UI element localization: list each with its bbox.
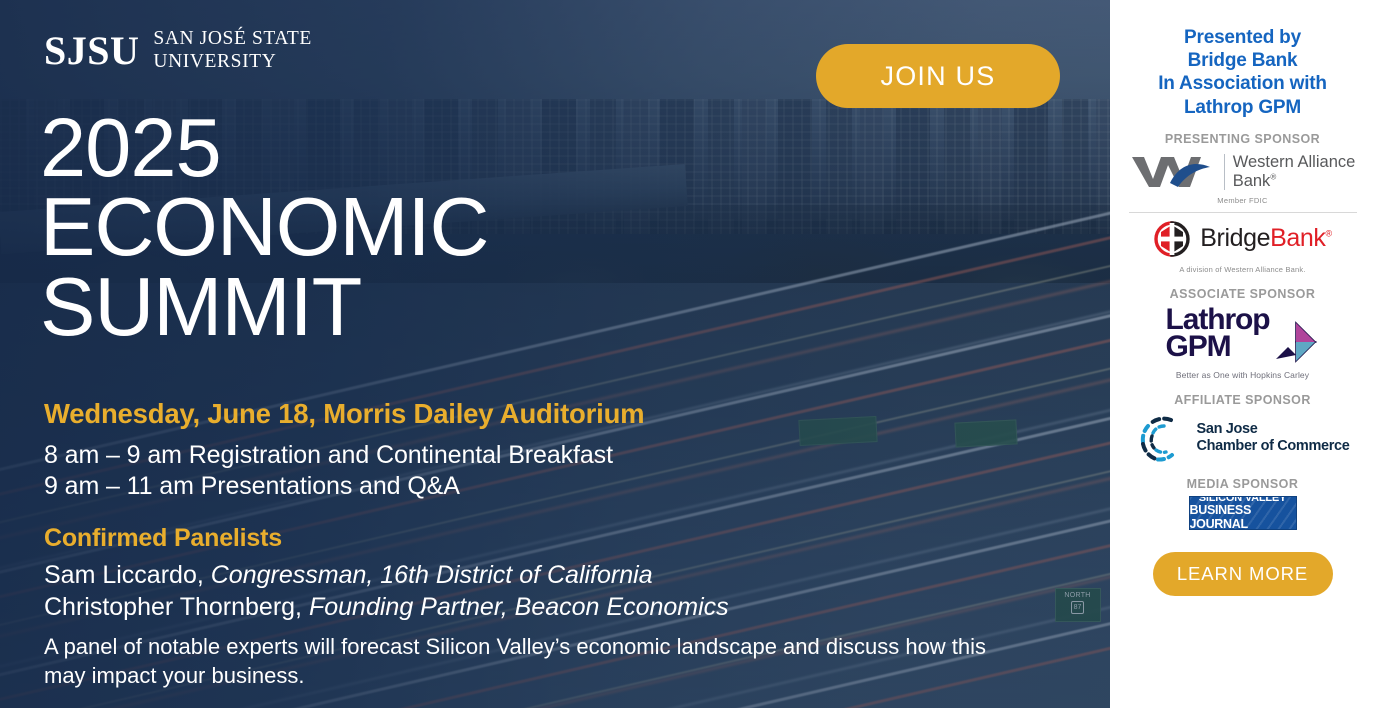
sponsor-rail: Presented by Bridge Bank In Association …	[1110, 0, 1375, 708]
san-jose-chamber-logo[interactable]: San Jose Chamber of Commerce	[1136, 412, 1350, 464]
lathrop-word: Lathrop	[1166, 306, 1270, 333]
sjsu-fullname: SAN JOSÉ STATE UNIVERSITY	[153, 28, 312, 73]
bank-word: Bank	[1270, 224, 1325, 252]
western-alliance-name-line2: Bank®	[1233, 172, 1356, 190]
gpm-word: GPM	[1166, 333, 1270, 360]
label-presenting-sponsor: PRESENTING SPONSOR	[1165, 132, 1320, 146]
presented-by-line-4: Lathrop GPM	[1158, 96, 1327, 119]
western-alliance-bank-logo[interactable]: Western Alliance Bank®	[1130, 151, 1356, 193]
panelist-name: Christopher Thornberg,	[44, 593, 302, 621]
panelist-role: Founding Partner, Beacon Economics	[309, 593, 729, 621]
presented-by-line-1: Presented by	[1158, 26, 1327, 49]
title-line-year: 2025	[40, 108, 489, 187]
panelist-row: Christopher Thornberg, Founding Partner,…	[44, 592, 729, 624]
chamber-c-icon	[1136, 412, 1188, 464]
chamber-name-line1: San Jose	[1197, 421, 1350, 438]
economic-summit-banner: NORTH 87 SJSU SAN JOSÉ STATE UNIVERSITY …	[0, 0, 1375, 708]
sjsu-fullname-line1: SAN JOSÉ STATE	[153, 28, 312, 51]
event-description: A panel of notable experts will forecast…	[44, 632, 1004, 691]
bridge-bank-circle-icon	[1153, 220, 1191, 258]
wa-bank-word: Bank	[1233, 172, 1271, 190]
western-alliance-divider	[1224, 154, 1225, 190]
event-date-venue: Wednesday, June 18, Morris Dailey Audito…	[44, 398, 1044, 430]
chamber-name-line2: Chamber of Commerce	[1197, 438, 1350, 455]
svbj-line2: BUSINESS JOURNAL	[1190, 504, 1296, 529]
sjsu-logo: SJSU SAN JOSÉ STATE UNIVERSITY	[44, 28, 312, 73]
lathrop-gpm-logo[interactable]: Lathrop GPM	[1166, 306, 1320, 365]
title-line-summit: SUMMIT	[40, 267, 489, 346]
join-us-button[interactable]: JOIN US	[816, 44, 1060, 108]
hero-content: SJSU SAN JOSÉ STATE UNIVERSITY JOIN US 2…	[0, 0, 1110, 708]
event-schedule: 8 am – 9 am Registration and Continental…	[44, 440, 1044, 502]
chamber-name: San Jose Chamber of Commerce	[1197, 421, 1350, 455]
lathrop-pinwheel-icon	[1273, 319, 1319, 365]
panelists-list: Sam Liccardo, Congressman, 16th District…	[44, 560, 729, 623]
sjsu-fullname-line2: UNIVERSITY	[153, 51, 312, 74]
bridge-bank-division-note: A division of Western Alliance Bank.	[1179, 265, 1305, 274]
panelist-role: Congressman, 16th District of California	[211, 561, 653, 589]
panelists-heading: Confirmed Panelists	[44, 524, 282, 553]
western-alliance-name: Western Alliance Bank®	[1233, 153, 1356, 190]
panelist-row: Sam Liccardo, Congressman, 16th District…	[44, 560, 729, 592]
bridge-word: Bridge	[1200, 224, 1270, 252]
title-line-economic: ECONOMIC	[40, 187, 489, 266]
presented-by-line-2: Bridge Bank	[1158, 49, 1327, 72]
wa-registered-mark: ®	[1270, 172, 1276, 181]
western-alliance-fdic-note: Member FDIC	[1217, 196, 1267, 205]
rail-divider	[1129, 212, 1357, 213]
hero-section: NORTH 87 SJSU SAN JOSÉ STATE UNIVERSITY …	[0, 0, 1110, 708]
schedule-row-1: 8 am – 9 am Registration and Continental…	[44, 440, 1044, 471]
schedule-row-2: 9 am – 11 am Presentations and Q&A	[44, 471, 1044, 502]
bridge-bank-wordmark: BridgeBank®	[1200, 224, 1332, 253]
panelist-name: Sam Liccardo,	[44, 561, 204, 589]
learn-more-button[interactable]: LEARN MORE	[1153, 552, 1333, 596]
bridge-bank-logo[interactable]: BridgeBank®	[1153, 217, 1332, 261]
page-title: 2025 ECONOMIC SUMMIT	[40, 108, 489, 346]
western-alliance-wa-icon	[1130, 153, 1216, 191]
lathrop-gpm-wordmark: Lathrop GPM	[1166, 306, 1270, 360]
presented-by-block: Presented by Bridge Bank In Association …	[1158, 26, 1327, 119]
label-media-sponsor: MEDIA SPONSOR	[1187, 477, 1299, 491]
presented-by-line-3: In Association with	[1158, 72, 1327, 95]
silicon-valley-business-journal-logo[interactable]: SILICON VALLEY BUSINESS JOURNAL	[1189, 496, 1297, 530]
lathrop-gpm-tagline: Better as One with Hopkins Carley	[1176, 370, 1309, 380]
western-alliance-name-line1: Western Alliance	[1233, 153, 1356, 171]
event-meta: Wednesday, June 18, Morris Dailey Audito…	[44, 398, 1044, 502]
label-affiliate-sponsor: AFFILIATE SPONSOR	[1174, 393, 1311, 407]
sjsu-wordmark: SJSU	[44, 31, 139, 71]
label-associate-sponsor: ASSOCIATE SPONSOR	[1170, 287, 1316, 301]
bb-registered-mark: ®	[1326, 229, 1332, 239]
